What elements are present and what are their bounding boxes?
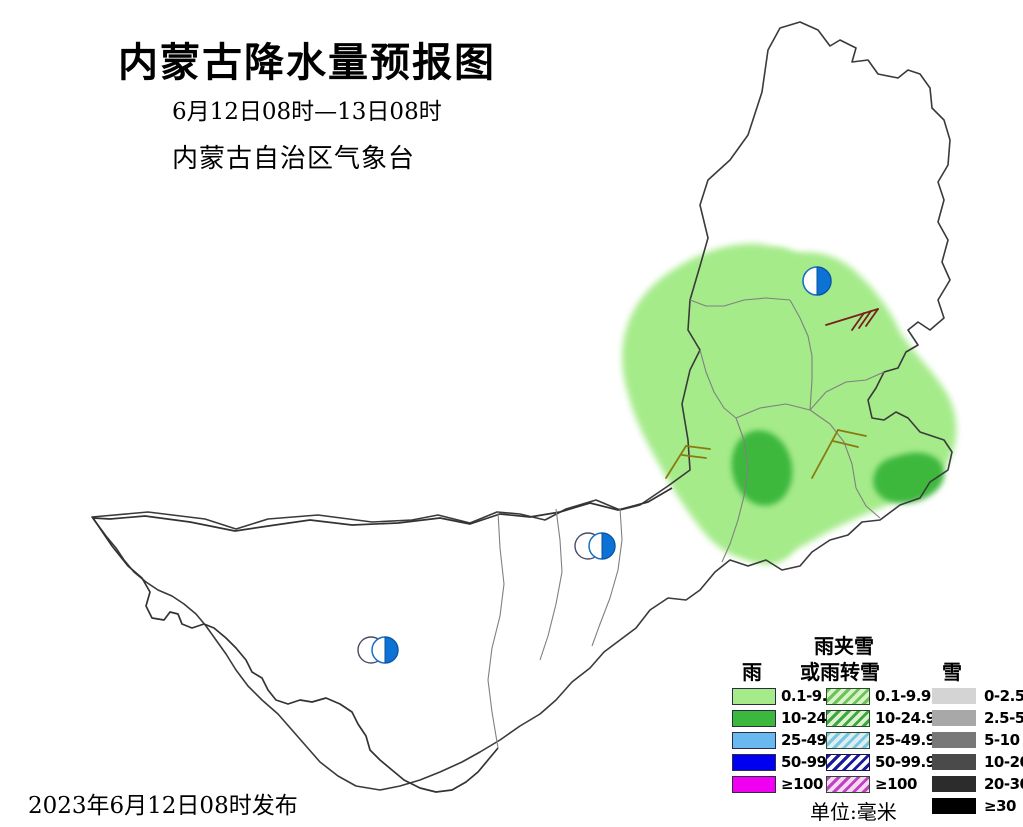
station-symbol-southwest xyxy=(358,637,398,663)
legend-swatch-snow-2 xyxy=(932,732,976,748)
legend-swatch-rain-2 xyxy=(732,732,776,749)
weather-map-page: 内蒙古降水量预报图 6月12日08时—13日08时 内蒙古自治区气象台 2023… xyxy=(0,0,1023,827)
legend-swatch-snow-3 xyxy=(932,754,976,770)
legend-label-snow-2: 5-10 xyxy=(984,731,1020,749)
legend-swatch-sleet-2 xyxy=(826,732,870,749)
legend-label-sleet-1: 10-24.9 xyxy=(875,709,936,727)
precip-layer xyxy=(622,244,956,565)
legend: 雨 雨夹雪 或雨转雪 雪 0.1-9.910-24.925-49.950-99.… xyxy=(726,628,1018,826)
legend-label-snow-0: 0-2.5 xyxy=(984,687,1023,705)
legend-row: 10-24.9 xyxy=(826,708,936,728)
legend-row: ≥100 xyxy=(826,774,936,794)
legend-row: 25-49.9 xyxy=(826,730,936,750)
legend-label-snow-4: 20-30 xyxy=(984,775,1023,793)
legend-label-snow-3: 10-20 xyxy=(984,753,1023,771)
legend-row: 10-20 xyxy=(932,752,1023,772)
legend-column-snow: 0-2.52.5-55-1010-2020-30≥30 xyxy=(932,686,1023,818)
legend-swatch-snow-4 xyxy=(932,776,976,792)
legend-label-snow-1: 2.5-5 xyxy=(984,709,1023,727)
legend-label-snow-5: ≥30 xyxy=(984,797,1016,815)
legend-row: 20-30 xyxy=(932,774,1023,794)
legend-swatch-rain-4 xyxy=(732,776,776,793)
legend-header-sleet-line2: 或雨转雪 xyxy=(800,656,880,685)
legend-swatch-snow-1 xyxy=(932,710,976,726)
legend-row: 2.5-5 xyxy=(932,708,1023,728)
legend-row: 0.1-9.9 xyxy=(826,686,936,706)
legend-swatch-snow-0 xyxy=(932,688,976,704)
legend-header-rain: 雨 xyxy=(742,656,762,685)
issue-timestamp: 2023年6月12日08时发布 xyxy=(28,786,298,820)
legend-swatch-sleet-3 xyxy=(826,754,870,771)
legend-swatch-sleet-1 xyxy=(826,710,870,727)
legend-label-sleet-0: 0.1-9.9 xyxy=(875,687,931,705)
legend-label-sleet-2: 25-49.9 xyxy=(875,731,936,749)
station-symbol-north xyxy=(803,267,831,295)
legend-swatch-snow-5 xyxy=(932,798,976,814)
legend-header-snow: 雪 xyxy=(942,656,962,685)
legend-row: ≥30 xyxy=(932,796,1023,816)
legend-swatch-sleet-4 xyxy=(826,776,870,793)
legend-unit: 单位:毫米 xyxy=(810,796,897,825)
legend-header-sleet-line1: 雨夹雪 xyxy=(814,630,874,659)
legend-label-sleet-3: 50-99.9 xyxy=(875,753,936,771)
legend-swatch-rain-0 xyxy=(732,688,776,705)
legend-row: 5-10 xyxy=(932,730,1023,750)
station-symbol-central xyxy=(575,533,615,559)
legend-column-sleet: 0.1-9.910-24.925-49.950-99.9≥100 xyxy=(826,686,936,796)
legend-swatch-rain-1 xyxy=(732,710,776,727)
legend-row: 0-2.5 xyxy=(932,686,1023,706)
legend-label-rain-4: ≥100 xyxy=(781,775,823,793)
legend-label-sleet-4: ≥100 xyxy=(875,775,917,793)
legend-row: 50-99.9 xyxy=(826,752,936,772)
legend-swatch-rain-3 xyxy=(732,754,776,771)
legend-swatch-sleet-0 xyxy=(826,688,870,705)
